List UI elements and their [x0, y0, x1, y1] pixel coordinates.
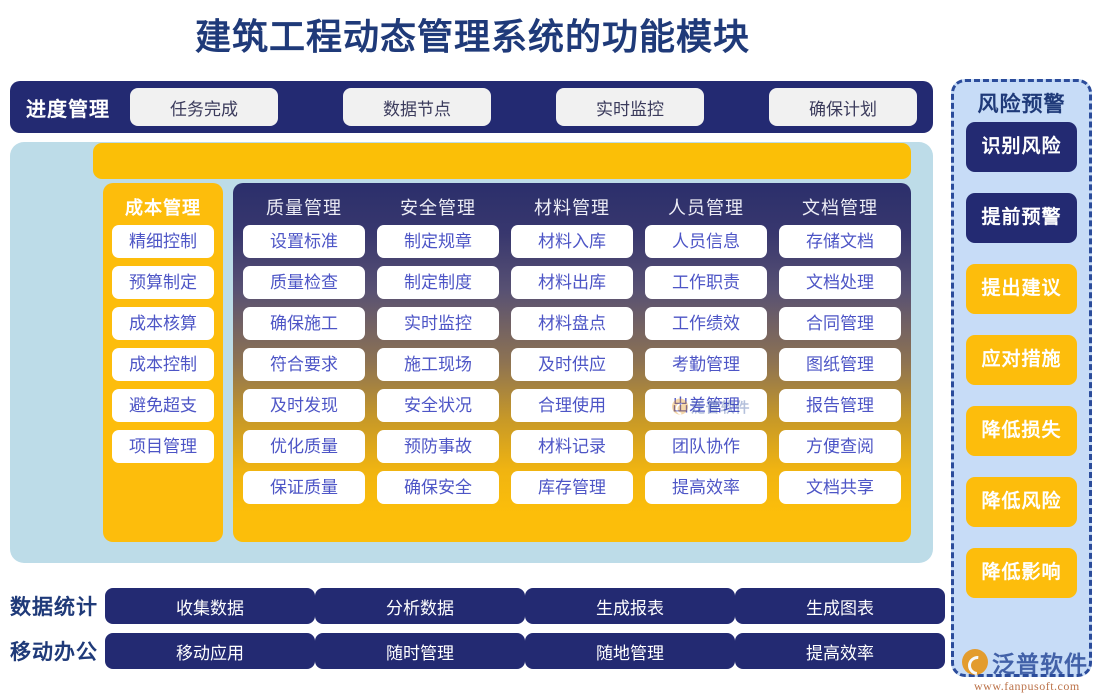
module-item[interactable]: 及时供应	[511, 348, 633, 381]
bottom-chip[interactable]: 随地管理	[525, 633, 735, 669]
cost-management-header: 成本管理	[103, 191, 223, 225]
accent-bar	[93, 143, 911, 179]
module-item[interactable]: 出差管理	[645, 389, 767, 422]
risk-warning-title: 风险预警	[966, 86, 1077, 122]
cost-item[interactable]: 项目管理	[112, 430, 214, 463]
module-item[interactable]: 报告管理	[779, 389, 901, 422]
progress-chip-group: 任务完成 数据节点 实时监控 确保计划	[130, 88, 933, 126]
module-item[interactable]: 图纸管理	[779, 348, 901, 381]
data-statistics-label: 数据统计	[10, 591, 105, 621]
module-item[interactable]: 符合要求	[243, 348, 365, 381]
risk-item[interactable]: 提前预警	[966, 193, 1077, 243]
cost-management-items: 精细控制 预算制定 成本核算 成本控制 避免超支 项目管理	[103, 225, 223, 463]
modules-grid: 质量管理 设置标准 质量检查 确保施工 符合要求 及时发现 优化质量 保证质量 …	[233, 183, 911, 542]
bottom-chip[interactable]: 提高效率	[735, 633, 945, 669]
risk-item[interactable]: 提出建议	[966, 264, 1077, 314]
bottom-chip[interactable]: 收集数据	[105, 588, 315, 624]
mobile-office-label: 移动办公	[10, 636, 105, 666]
watermark-url: www.fanpusoft.com	[974, 679, 1080, 694]
data-statistics-chip-group: 收集数据 分析数据 生成报表 生成图表	[105, 588, 945, 624]
module-item[interactable]: 材料记录	[511, 430, 633, 463]
bottom-chip[interactable]: 生成报表	[525, 588, 735, 624]
module-item[interactable]: 施工现场	[377, 348, 499, 381]
material-management-column: 材料管理 材料入库 材料出库 材料盘点 及时供应 合理使用 材料记录 库存管理	[511, 191, 633, 542]
column-header: 文档管理	[779, 191, 901, 225]
progress-chip[interactable]: 确保计划	[769, 88, 917, 126]
module-item[interactable]: 团队协作	[645, 430, 767, 463]
page-title: 建筑工程动态管理系统的功能模块	[0, 14, 945, 60]
modules-panel: 成本管理 精细控制 预算制定 成本核算 成本控制 避免超支 项目管理 质量管理 …	[10, 142, 933, 563]
module-item[interactable]: 文档处理	[779, 266, 901, 299]
personnel-management-column: 人员管理 人员信息 工作职责 工作绩效 考勤管理 出差管理 团队协作 提高效率	[645, 191, 767, 542]
column-header: 材料管理	[511, 191, 633, 225]
module-item[interactable]: 方便查阅	[779, 430, 901, 463]
module-item[interactable]: 质量检查	[243, 266, 365, 299]
module-item[interactable]: 材料入库	[511, 225, 633, 258]
mobile-office-row: 移动办公 移动应用 随时管理 随地管理 提高效率	[10, 633, 945, 669]
module-item[interactable]: 优化质量	[243, 430, 365, 463]
module-item[interactable]: 存储文档	[779, 225, 901, 258]
module-item[interactable]: 合理使用	[511, 389, 633, 422]
quality-management-column: 质量管理 设置标准 质量检查 确保施工 符合要求 及时发现 优化质量 保证质量	[243, 191, 365, 542]
module-item[interactable]: 安全状况	[377, 389, 499, 422]
risk-item[interactable]: 降低风险	[966, 477, 1077, 527]
progress-chip[interactable]: 实时监控	[556, 88, 704, 126]
module-item[interactable]: 文档共享	[779, 471, 901, 504]
column-header: 人员管理	[645, 191, 767, 225]
module-item[interactable]: 材料出库	[511, 266, 633, 299]
module-item[interactable]: 提高效率	[645, 471, 767, 504]
infographic-canvas: 建筑工程动态管理系统的功能模块 进度管理 任务完成 数据节点 实时监控 确保计划…	[0, 0, 1100, 700]
progress-management-bar: 进度管理 任务完成 数据节点 实时监控 确保计划	[10, 81, 933, 133]
column-header: 安全管理	[377, 191, 499, 225]
risk-item[interactable]: 降低影响	[966, 548, 1077, 598]
module-item[interactable]: 制定规章	[377, 225, 499, 258]
cost-item[interactable]: 精细控制	[112, 225, 214, 258]
cost-management-column: 成本管理 精细控制 预算制定 成本核算 成本控制 避免超支 项目管理	[103, 183, 223, 542]
cost-item[interactable]: 预算制定	[112, 266, 214, 299]
bottom-chip[interactable]: 随时管理	[315, 633, 525, 669]
module-item[interactable]: 确保施工	[243, 307, 365, 340]
module-item[interactable]: 考勤管理	[645, 348, 767, 381]
module-item[interactable]: 设置标准	[243, 225, 365, 258]
risk-item[interactable]: 应对措施	[966, 335, 1077, 385]
module-item[interactable]: 预防事故	[377, 430, 499, 463]
risk-item[interactable]: 降低损失	[966, 406, 1077, 456]
mobile-office-chip-group: 移动应用 随时管理 随地管理 提高效率	[105, 633, 945, 669]
bottom-rows: 数据统计 收集数据 分析数据 生成报表 生成图表 移动办公 移动应用 随时管理 …	[10, 588, 945, 678]
bottom-chip[interactable]: 生成图表	[735, 588, 945, 624]
data-statistics-row: 数据统计 收集数据 分析数据 生成报表 生成图表	[10, 588, 945, 624]
column-header: 质量管理	[243, 191, 365, 225]
module-item[interactable]: 合同管理	[779, 307, 901, 340]
progress-chip[interactable]: 数据节点	[343, 88, 491, 126]
module-item[interactable]: 工作职责	[645, 266, 767, 299]
module-item[interactable]: 库存管理	[511, 471, 633, 504]
module-item[interactable]: 及时发现	[243, 389, 365, 422]
progress-management-label: 进度管理	[26, 93, 110, 122]
module-item[interactable]: 制定制度	[377, 266, 499, 299]
cost-item[interactable]: 成本控制	[112, 348, 214, 381]
module-item[interactable]: 材料盘点	[511, 307, 633, 340]
module-item[interactable]: 确保安全	[377, 471, 499, 504]
bottom-chip[interactable]: 移动应用	[105, 633, 315, 669]
progress-chip[interactable]: 任务完成	[130, 88, 278, 126]
bottom-chip[interactable]: 分析数据	[315, 588, 525, 624]
cost-item[interactable]: 避免超支	[112, 389, 214, 422]
module-item[interactable]: 实时监控	[377, 307, 499, 340]
module-item[interactable]: 保证质量	[243, 471, 365, 504]
cost-item[interactable]: 成本核算	[112, 307, 214, 340]
document-management-column: 文档管理 存储文档 文档处理 合同管理 图纸管理 报告管理 方便查阅 文档共享	[779, 191, 901, 542]
module-item[interactable]: 人员信息	[645, 225, 767, 258]
module-item[interactable]: 工作绩效	[645, 307, 767, 340]
safety-management-column: 安全管理 制定规章 制定制度 实时监控 施工现场 安全状况 预防事故 确保安全	[377, 191, 499, 542]
risk-item[interactable]: 识别风险	[966, 122, 1077, 172]
risk-warning-panel: 风险预警 识别风险 提前预警 提出建议 应对措施 降低损失 降低风险 降低影响	[951, 79, 1092, 677]
